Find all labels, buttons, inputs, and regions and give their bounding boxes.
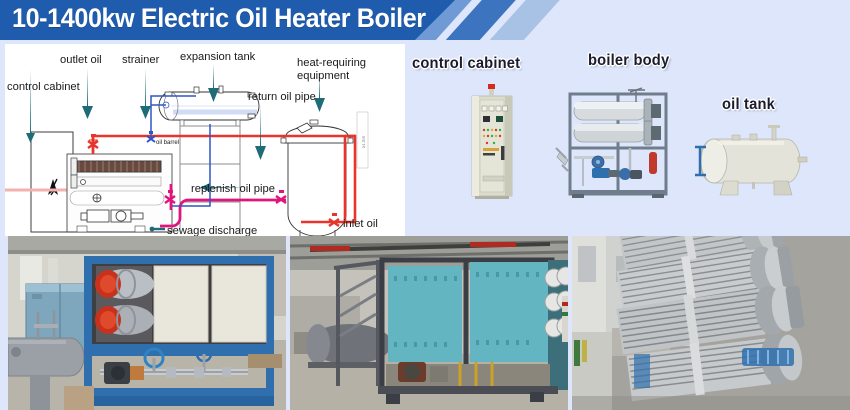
schematic-label-sewage-discharge: sewage discharge (167, 225, 257, 236)
product-label-oil-tank: oil tank (722, 96, 775, 114)
svg-text:≥1.5m: ≥1.5m (361, 135, 366, 148)
schematic-label-heat-equipment-2: equipment (297, 70, 350, 82)
product-infographic: 10-1400kw Electric Oil Heater Boiler (0, 0, 850, 410)
product-gallery (0, 236, 850, 410)
schematic-boiler-body (67, 154, 172, 232)
gallery-photo-large-teal-panel-boiler (290, 236, 568, 410)
schematic-label-inlet-oil: inlet oil (343, 218, 378, 230)
schematic-label-heat-equipment-1: heat-requiring (297, 57, 366, 69)
gallery-photo-heating-element-bundles (572, 236, 850, 410)
page-title: 10-1400kw Electric Oil Heater Boiler (12, 3, 426, 34)
system-schematic-panel: ≥1.5m (5, 44, 405, 236)
gallery-photo-blue-frame-boiler-unit (8, 236, 286, 410)
schematic-label-oil-barrel: oil barrel (156, 140, 179, 146)
product-image-control-cabinet (463, 82, 521, 200)
product-image-oil-tank (688, 123, 812, 201)
schematic-label-expansion-tank: expansion tank (180, 51, 256, 63)
schematic-label-outlet-oil: outlet oil (60, 54, 102, 66)
product-label-boiler-body: boiler body (588, 52, 669, 70)
schematic-label-control-cabinet: control cabinet (7, 81, 81, 93)
schematic-label-replenish-oil-pipe: replenish oil pipe (191, 183, 275, 195)
schematic-label-strainer: strainer (122, 54, 160, 66)
schematic-label-return-oil-pipe: return oil pipe (248, 91, 316, 103)
schematic-drawing: ≥1.5m (5, 44, 405, 236)
title-banner: 10-1400kw Electric Oil Heater Boiler (0, 0, 850, 40)
product-image-boiler-body (552, 86, 680, 204)
product-label-control-cabinet: control cabinet (412, 55, 520, 73)
